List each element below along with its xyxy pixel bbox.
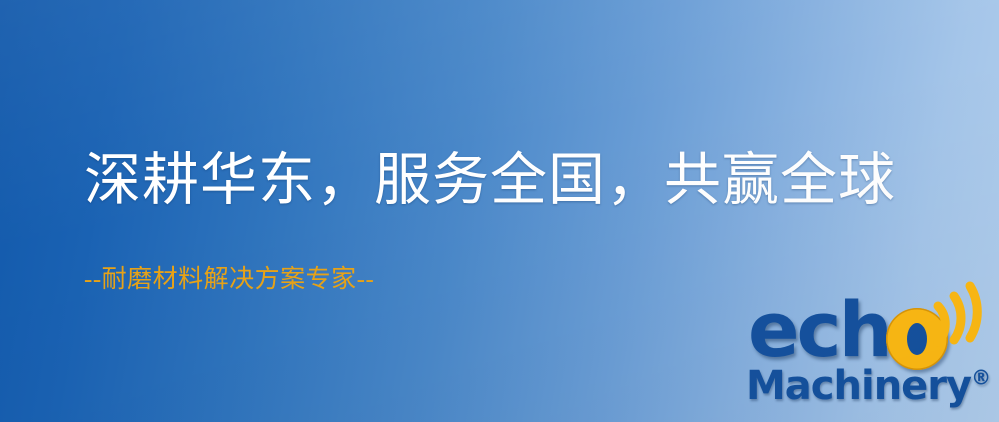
logo-wordmark-text: Machinery [746,363,971,409]
company-logo: ech Machinery® [742,296,998,422]
banner-headline: 深耕华东，服务全国，共赢全球 [84,152,896,209]
registered-trademark-icon: ® [971,366,991,390]
logo-echo-letters: ech [748,292,890,368]
echo-waves-icon [928,290,999,352]
banner-subtitle: --耐磨材料解决方案专家-- [84,267,374,292]
hero-banner: 深耕华东，服务全国，共赢全球 --耐磨材料解决方案专家-- ech Machin… [0,0,999,422]
logo-wordmark: Machinery® [746,366,991,406]
